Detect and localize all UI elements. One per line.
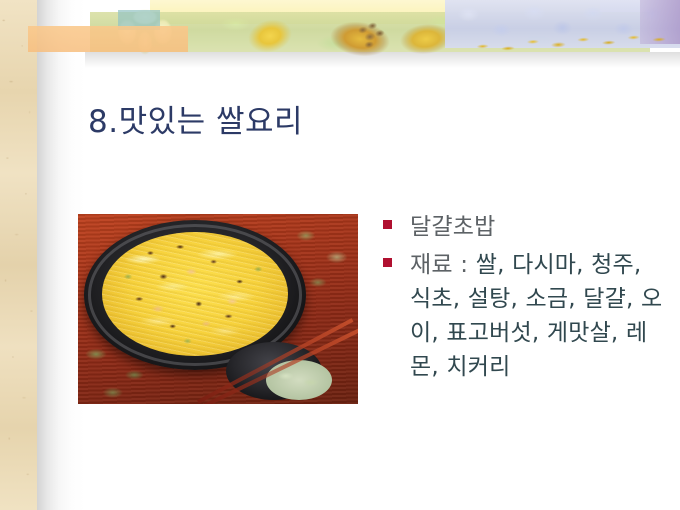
square-bullet-icon [383,258,392,267]
photo-toppings [102,232,288,356]
list-item: 달걀초밥 [383,210,663,244]
list-item: 재료 : 쌀, 다시마, 청주, 식초, 설탕, 소금, 달걀, 오이, 표고버… [383,248,663,384]
orange-tile [28,26,188,52]
presentation-slide: 8.맛있는 쌀요리 달걀초밥 재료 : 쌀, 다시마, 청주, 식초, 설탕, … [0,0,680,510]
photo-side-bowl-food [266,360,332,400]
ingredients-line: 재료 : 쌀, 다시마, 청주, 식초, 설탕, 소금, 달걀, 오이, 표고버… [410,248,663,384]
bullet-list: 달걀초밥 재료 : 쌀, 다시마, 청주, 식초, 설탕, 소금, 달걀, 오이… [383,210,663,388]
ingredients-label: 재료 : [410,252,476,278]
square-bullet-icon [383,220,392,229]
page-title: 8.맛있는 쌀요리 [88,96,303,141]
banner-shadow [85,52,680,68]
dish-name-text: 달걀초밥 [410,210,495,244]
sand-texture-strip [0,0,37,510]
chirashi-sushi-bowl-photo [78,214,358,404]
